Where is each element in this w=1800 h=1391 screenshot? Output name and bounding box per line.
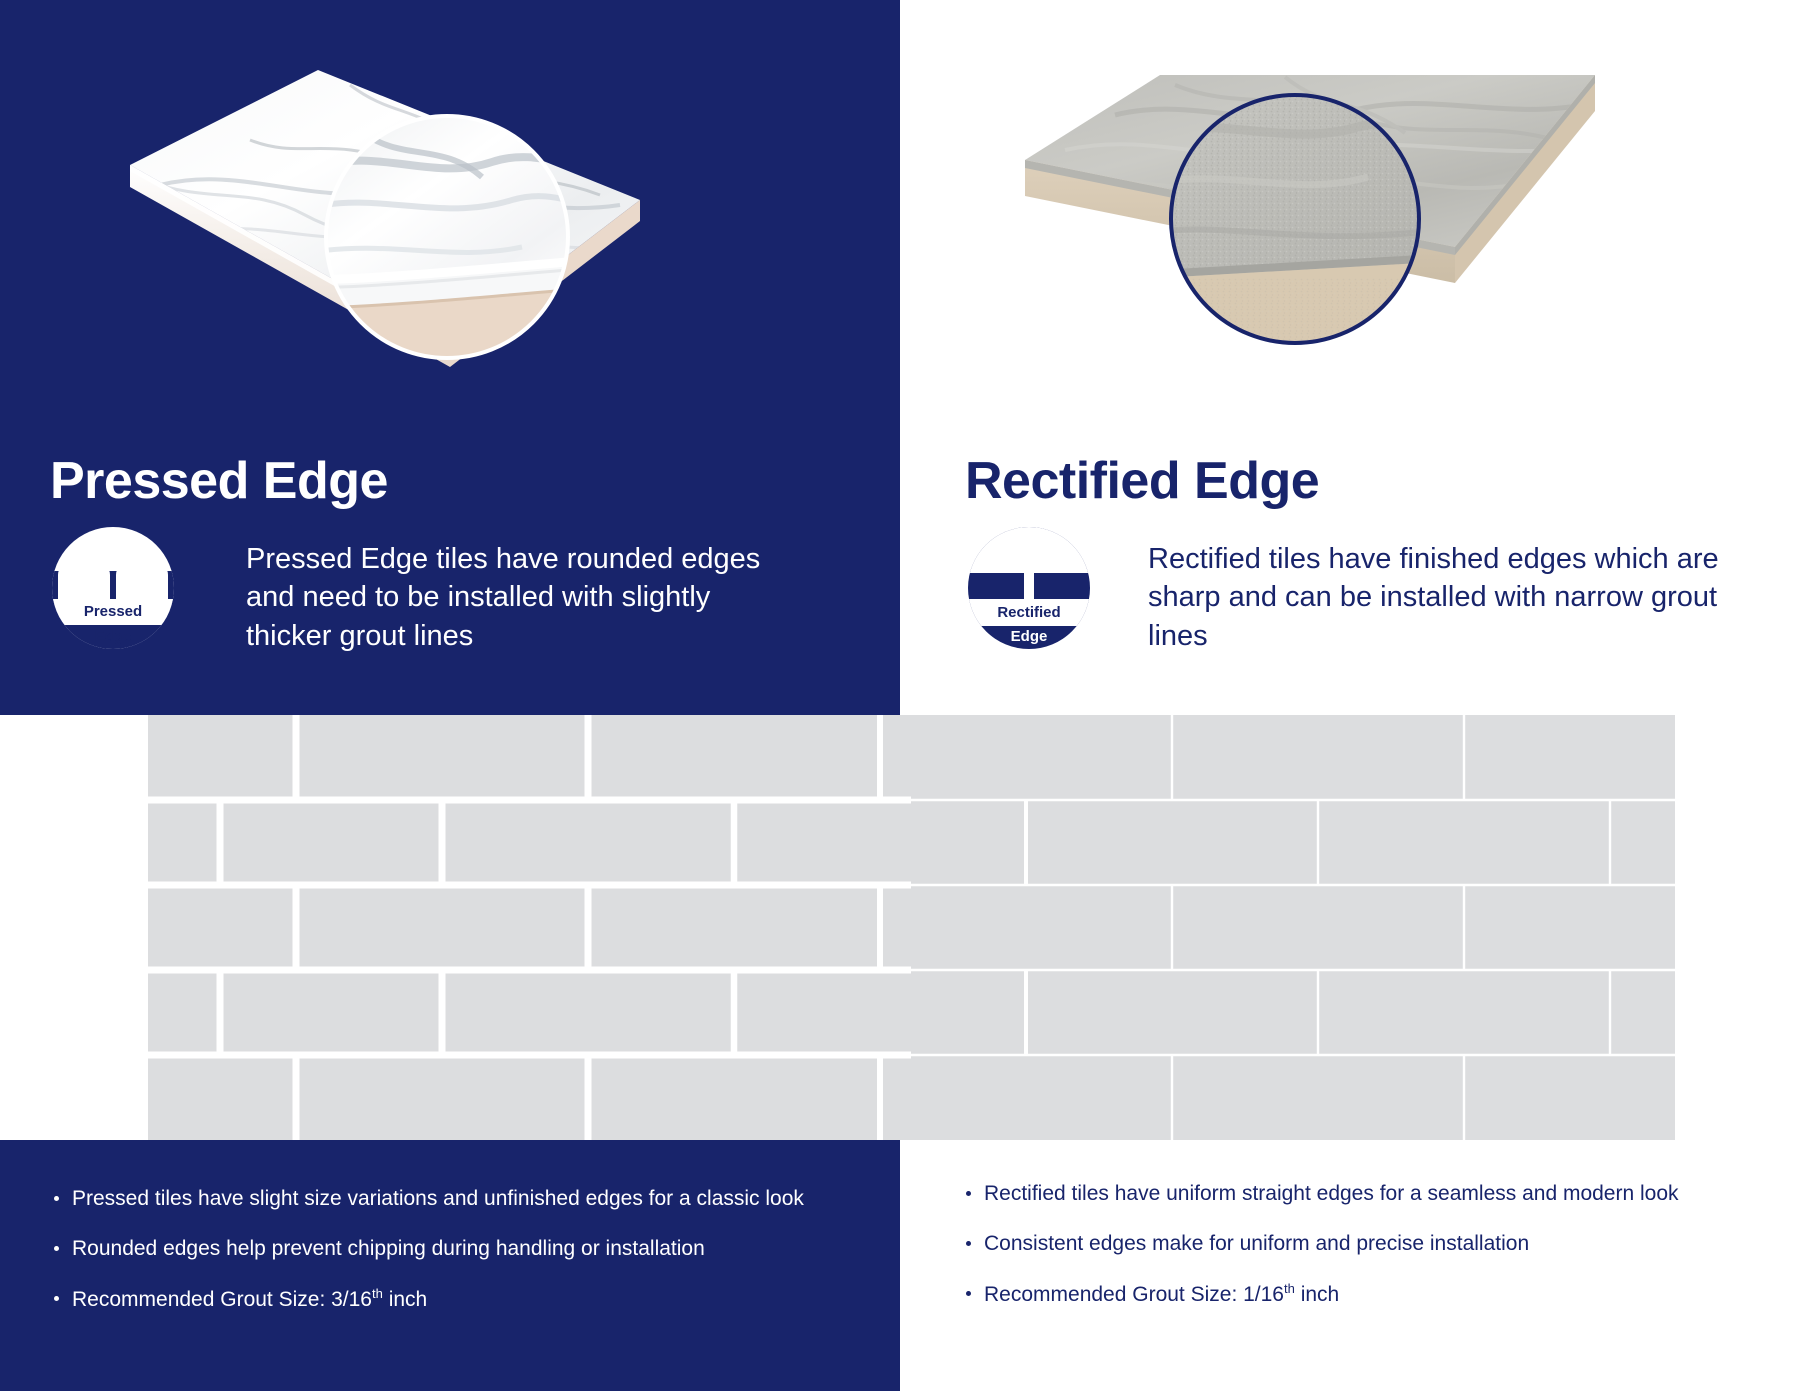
bullet-text: Rounded edges help prevent chipping duri… [72, 1237, 705, 1260]
list-item: Rounded edges help prevent chipping duri… [48, 1235, 848, 1263]
bullet-text-pre: Recommended Grout Size: 1/16 [984, 1283, 1284, 1306]
page-title-rectified: Rectified Edge [965, 455, 1319, 507]
magnifier-circle-right [1168, 92, 1422, 346]
magnifier-circle-left [322, 112, 572, 362]
bullet-text-sup: th [372, 1286, 383, 1301]
infographic-root: Pressed Edge Pressed Edge Pressed Edge t… [0, 0, 1800, 1391]
bullet-text-post: inch [1295, 1283, 1339, 1306]
sharp-edge-gap-shape [1024, 567, 1034, 601]
bullet-text: Rectified tiles have uniform straight ed… [984, 1182, 1679, 1205]
rounded-tile-left-shape [58, 561, 110, 599]
bullet-text: Consistent edges make for uniform and pr… [984, 1232, 1529, 1255]
rectified-intro-text: Rectified tiles have finished edges whic… [1148, 540, 1748, 655]
magnifier-circle-white-icon [322, 112, 572, 362]
bullet-text-post: inch [383, 1288, 427, 1311]
list-item: Pressed tiles have slight size variation… [48, 1185, 848, 1213]
pressed-bullet-list: Pressed tiles have slight size variation… [48, 1185, 848, 1314]
rectified-bullet-list: Rectified tiles have uniform straight ed… [960, 1180, 1720, 1309]
list-item: Consistent edges make for uniform and pr… [960, 1230, 1720, 1258]
subway-tile-wall [148, 715, 1675, 1140]
badge-sublabel: Edge [968, 626, 1090, 648]
rectified-edge-badge: Rectified Edge [968, 527, 1090, 649]
page-title-pressed: Pressed Edge [50, 455, 388, 507]
pressed-edge-badge: Pressed Edge [52, 527, 174, 649]
bullet-text: Pressed tiles have slight size variation… [72, 1187, 804, 1210]
badge-label: Rectified [968, 599, 1090, 626]
list-item: Recommended Grout Size: 1/16th inch [960, 1280, 1720, 1309]
tile-wall-svg [148, 715, 1675, 1140]
pressed-intro-text: Pressed Edge tiles have rounded edges an… [246, 540, 766, 655]
list-item: Recommended Grout Size: 3/16th inch [48, 1285, 848, 1314]
bullet-text-pre: Recommended Grout Size: 3/16 [72, 1288, 372, 1311]
rounded-tile-right-shape [116, 561, 168, 599]
list-item: Rectified tiles have uniform straight ed… [960, 1180, 1720, 1208]
magnifier-circle-navy-icon [1168, 92, 1422, 346]
bullet-text-sup: th [1284, 1281, 1295, 1296]
badge-label: Pressed [52, 599, 174, 625]
badge-sublabel: Edge [52, 626, 174, 648]
